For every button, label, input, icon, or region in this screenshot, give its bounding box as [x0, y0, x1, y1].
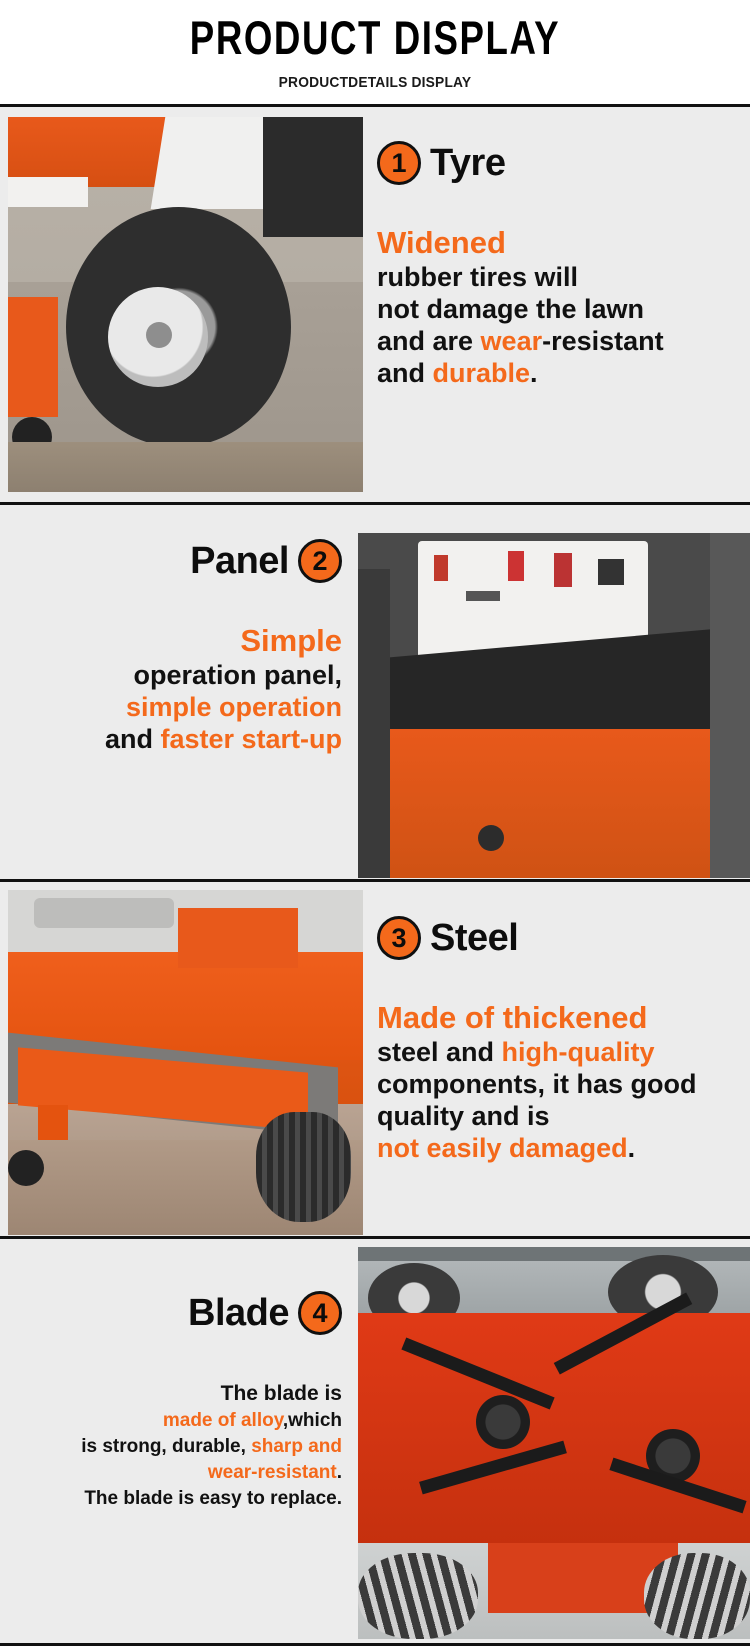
section-photo-panel — [358, 533, 750, 878]
body-text-run: steel and — [377, 1037, 502, 1067]
body-text-run: and are — [377, 326, 481, 356]
body-line: Made of thickened — [377, 1000, 732, 1036]
body-line: steel and high-quality — [377, 1036, 732, 1068]
body-text-run: . — [628, 1133, 636, 1163]
body-line: components, it has good — [377, 1068, 732, 1100]
body-line: quality and is — [377, 1100, 732, 1132]
body-text-run: not damage the lawn — [377, 294, 644, 324]
body-text-run: -resistant — [542, 326, 664, 356]
section-body-tyre: Widenedrubber tires willnot damage the l… — [377, 225, 732, 389]
body-line: not easily damaged. — [377, 1132, 732, 1164]
step-badge-3: 3 — [377, 916, 421, 960]
highlight-text: not easily damaged — [377, 1133, 628, 1163]
section-text-tyre: 1 Tyre Widenedrubber tires willnot damag… — [363, 107, 750, 502]
page-title: PRODUCT DISPLAY — [83, 12, 668, 64]
step-badge-4: 4 — [298, 1291, 342, 1335]
highlight-text: made of alloy — [163, 1410, 283, 1431]
body-text-run: The blade is — [221, 1382, 342, 1405]
section-text-steel: 3 Steel Made of thickenedsteel and high-… — [363, 882, 750, 1236]
body-text-run: . — [530, 358, 538, 388]
highlight-text: wear — [481, 326, 543, 356]
body-text-run: ,which — [283, 1410, 342, 1431]
body-line: made of alloy,which — [18, 1408, 342, 1434]
body-line: not damage the lawn — [377, 293, 732, 325]
page-header: PRODUCT DISPLAY PRODUCTDETAILS DISPLAY — [0, 0, 750, 91]
section-heading-blade: Blade 4 — [18, 1291, 342, 1335]
body-line: The blade is — [18, 1381, 342, 1408]
body-text-run: rubber tires will — [377, 262, 578, 292]
body-line: and durable. — [377, 357, 732, 389]
section-photo-tyre — [8, 117, 363, 492]
section-title-steel: Steel — [430, 917, 518, 959]
body-text-run: is strong, durable, — [81, 1436, 251, 1457]
step-badge-1: 1 — [377, 141, 421, 185]
section-blade: Blade 4 The blade ismade of alloy,whichi… — [0, 1239, 750, 1646]
body-line: rubber tires will — [377, 261, 732, 293]
body-text-run: components, it has good — [377, 1069, 697, 1099]
body-line: wear-resistant. — [18, 1460, 342, 1486]
body-line: operation panel, — [18, 659, 342, 691]
body-text-run: and — [377, 358, 433, 388]
highlight-text: Widened — [377, 225, 732, 261]
section-body-panel: Simpleoperation panel,simple operationan… — [18, 623, 342, 755]
body-text-run: The blade is easy to replace. — [84, 1488, 342, 1509]
highlight-text: durable — [433, 358, 531, 388]
body-text-run: . — [337, 1462, 342, 1483]
highlight-text: faster start-up — [160, 724, 342, 754]
section-heading-steel: 3 Steel — [377, 916, 732, 960]
highlight-text: Made of thickened — [377, 1000, 732, 1036]
body-line: simple operation — [18, 691, 342, 723]
highlight-text: simple operation — [126, 692, 342, 722]
section-panel: Panel 2 Simpleoperation panel,simple ope… — [0, 505, 750, 882]
body-text-run: quality and is — [377, 1101, 550, 1131]
highlight-text: sharp and — [251, 1436, 342, 1457]
body-line: and faster start-up — [18, 723, 342, 755]
section-title-panel: Panel — [190, 540, 289, 582]
page-subtitle: PRODUCTDETAILS DISPLAY — [30, 74, 720, 91]
section-photo-blade — [358, 1247, 750, 1639]
body-line: is strong, durable, sharp and — [18, 1434, 342, 1460]
body-line: Simple — [18, 623, 342, 659]
step-badge-2: 2 — [298, 539, 342, 583]
highlight-text: Simple — [18, 623, 342, 659]
section-heading-tyre: 1 Tyre — [377, 141, 732, 185]
section-title-blade: Blade — [188, 1292, 289, 1334]
section-steel: 3 Steel Made of thickenedsteel and high-… — [0, 882, 750, 1239]
highlight-text: wear-resistant — [208, 1462, 337, 1483]
section-title-tyre: Tyre — [430, 142, 505, 184]
section-tyre: 1 Tyre Widenedrubber tires willnot damag… — [0, 107, 750, 505]
body-line: The blade is easy to replace. — [18, 1486, 342, 1512]
section-photo-steel — [8, 890, 363, 1235]
body-line: and are wear-resistant — [377, 325, 732, 357]
body-line: Widened — [377, 225, 732, 261]
section-text-blade: Blade 4 The blade ismade of alloy,whichi… — [0, 1239, 358, 1643]
section-body-steel: Made of thickenedsteel and high-qualityc… — [377, 1000, 732, 1164]
body-text-run: operation panel, — [133, 660, 342, 690]
section-text-panel: Panel 2 Simpleoperation panel,simple ope… — [0, 505, 358, 879]
product-display-page: PRODUCT DISPLAY PRODUCTDETAILS DISPLAY 1… — [0, 0, 750, 1649]
body-text-run: and — [105, 724, 161, 754]
highlight-text: high-quality — [502, 1037, 655, 1067]
section-heading-panel: Panel 2 — [18, 539, 342, 583]
section-body-blade: The blade ismade of alloy,whichis strong… — [18, 1381, 342, 1512]
